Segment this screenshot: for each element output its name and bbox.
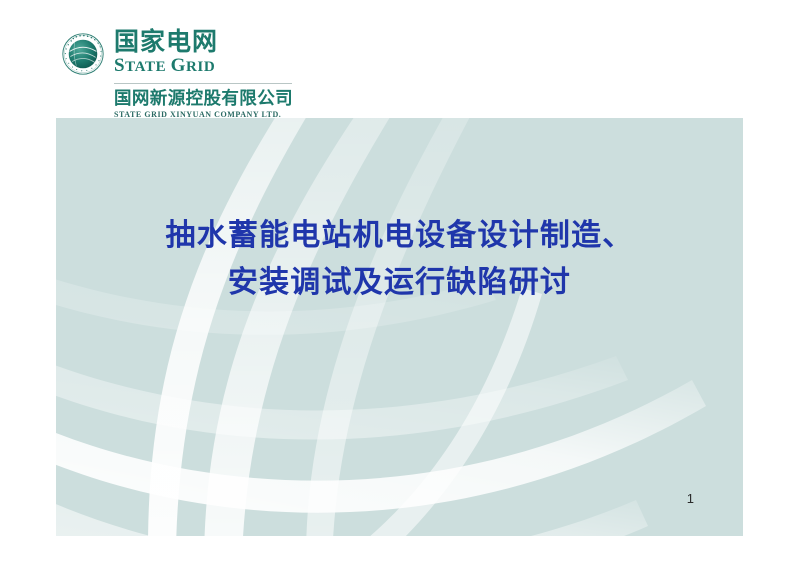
company-name-cn: 国网新源控股有限公司 [114, 90, 293, 109]
state-grid-globe-emblem-icon [62, 33, 104, 75]
slide-title-line-2: 安装调试及运行缺陷研讨 [56, 260, 743, 307]
slide-canvas: 抽水蓄能电站机电设备设计制造、 安装调试及运行缺陷研讨 1 [56, 118, 743, 536]
brand-text-stack: 国家电网 STATE GRID 国网新源控股有限公司 STATE GRID XI… [114, 28, 293, 120]
brand-divider [114, 83, 292, 84]
brand-name-cn: 国家电网 [114, 28, 293, 55]
brand-name-en: STATE GRID [114, 56, 293, 76]
brand-logo-lockup: 国家电网 STATE GRID 国网新源控股有限公司 STATE GRID XI… [62, 28, 293, 120]
page-number: 1 [687, 491, 694, 506]
globe-meridian-background-graphic [56, 118, 743, 536]
brand-en-tate: TATE [125, 59, 166, 75]
slide-title: 抽水蓄能电站机电设备设计制造、 安装调试及运行缺陷研讨 [56, 213, 743, 307]
brand-en-g: G [171, 55, 186, 76]
presentation-slide: 国家电网 STATE GRID 国网新源控股有限公司 STATE GRID XI… [0, 0, 800, 566]
brand-en-s: S [114, 55, 125, 76]
slide-title-line-1: 抽水蓄能电站机电设备设计制造、 [56, 213, 743, 260]
brand-en-rid: RID [186, 59, 215, 75]
